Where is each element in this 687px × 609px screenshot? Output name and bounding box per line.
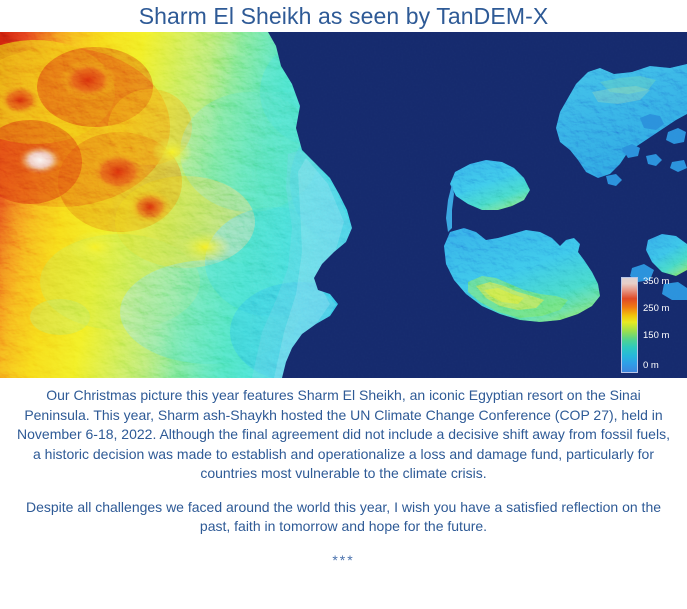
caption-paragraph-2: Despite all challenges we faced around t…: [16, 498, 671, 537]
page-title: Sharm El Sheikh as seen by TanDEM-X: [139, 0, 549, 32]
caption-divider: ***: [16, 552, 671, 568]
legend-tick-0: 0 m: [643, 361, 659, 371]
page-root: Sharm El Sheikh as seen by TanDEM-X: [0, 0, 687, 609]
caption-paragraph-1: Our Christmas picture this year features…: [16, 386, 671, 484]
elevation-legend-labels: 350 m 250 m 150 m 0 m: [643, 275, 683, 375]
page-title-bar: Sharm El Sheikh as seen by TanDEM-X: [0, 0, 687, 32]
dem-map-image: 350 m 250 m 150 m 0 m: [0, 32, 687, 378]
elevation-colorbar: [621, 277, 638, 373]
dem-terrain-svg: [0, 32, 687, 378]
caption-block: Our Christmas picture this year features…: [0, 378, 687, 568]
legend-tick-350: 350 m: [643, 277, 669, 287]
legend-tick-150: 150 m: [643, 331, 669, 341]
legend-tick-250: 250 m: [643, 304, 669, 314]
elevation-legend: 350 m 250 m 150 m 0 m: [621, 275, 683, 375]
